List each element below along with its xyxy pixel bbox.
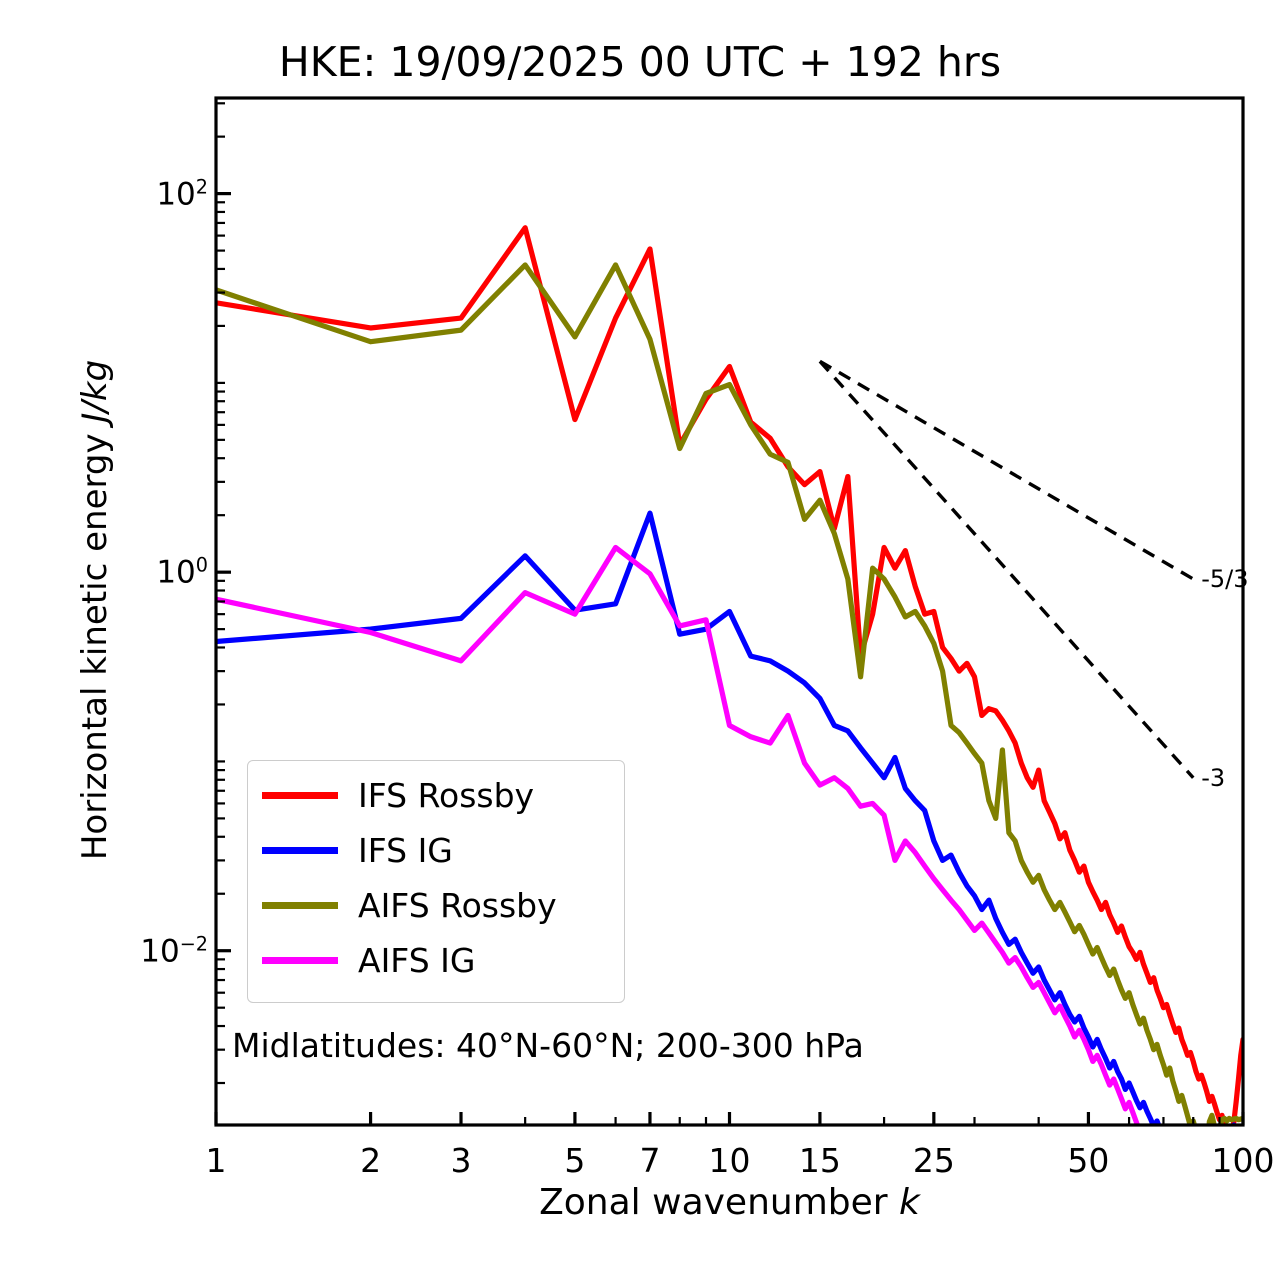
x-tick-label: 3 xyxy=(451,1141,472,1180)
y-tick-label: 102 xyxy=(60,175,208,212)
slope-label-3: -3 xyxy=(1201,764,1225,792)
legend-label: AIFS IG xyxy=(358,944,475,977)
x-tick-label: 2 xyxy=(360,1141,381,1180)
slope-label-53: -5/3 xyxy=(1201,565,1248,593)
y-tick-label: 100 xyxy=(60,553,208,590)
legend-label: IFS Rossby xyxy=(358,779,534,812)
slope-line-53 xyxy=(820,361,1193,579)
legend-color-swatch xyxy=(262,792,338,799)
x-tick-label: 7 xyxy=(639,1141,660,1180)
legend-color-swatch xyxy=(262,847,338,854)
legend-item[interactable]: IFS Rossby xyxy=(262,775,534,815)
x-tick-label: 50 xyxy=(1067,1141,1109,1180)
legend-label: AIFS Rossby xyxy=(358,889,557,922)
region-annotation: Midlatitudes: 40°N-60°N; 200-300 hPa xyxy=(232,1026,864,1065)
legend: IFS RossbyIFS IGAIFS RossbyAIFS IG xyxy=(247,760,625,1003)
series-line-aifs-rossby xyxy=(216,265,1243,1156)
legend-item[interactable]: AIFS Rossby xyxy=(262,885,557,925)
x-tick-label: 15 xyxy=(799,1141,841,1180)
x-tick-label: 25 xyxy=(913,1141,955,1180)
chart-page: HKE: 19/09/2025 00 UTC + 192 hrs Horizon… xyxy=(0,0,1280,1288)
series-group xyxy=(216,228,1243,1288)
y-tick-label: 10−2 xyxy=(60,932,208,969)
legend-item[interactable]: AIFS IG xyxy=(262,940,475,980)
x-tick-label: 10 xyxy=(709,1141,751,1180)
x-tick-label: 1 xyxy=(206,1141,227,1180)
legend-color-swatch xyxy=(262,902,338,909)
x-tick-label: 5 xyxy=(564,1141,585,1180)
x-tick-label: 100 xyxy=(1212,1141,1275,1180)
legend-color-swatch xyxy=(262,957,338,964)
legend-item[interactable]: IFS IG xyxy=(262,830,453,870)
legend-label: IFS IG xyxy=(358,834,453,867)
